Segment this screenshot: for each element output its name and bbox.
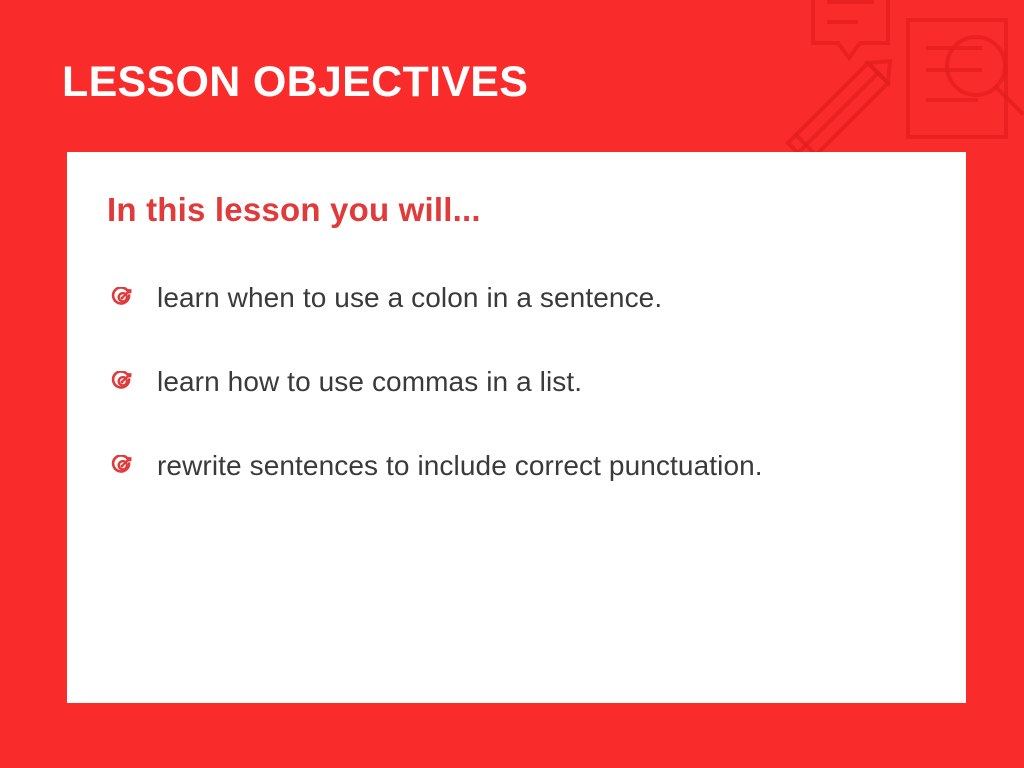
- content-card: In this lesson you will... learn when to…: [67, 152, 966, 703]
- pencil-icon: [788, 61, 890, 160]
- list-item: learn when to use a colon in a sentence.: [111, 283, 942, 367]
- objectives-list: learn when to use a colon in a sentence.…: [111, 283, 942, 535]
- list-item: learn how to use commas in a list.: [111, 367, 942, 451]
- speech-bubble-icon: [813, 0, 888, 58]
- document-magnifier-icon: [908, 20, 1022, 137]
- page-title: LESSON OBJECTIVES: [62, 58, 528, 106]
- objective-text: rewrite sentences to include correct pun…: [157, 451, 942, 480]
- target-dart-icon: [111, 371, 133, 393]
- slide-canvas: LESSON OBJECTIVES In this lesson you wil…: [0, 0, 1024, 768]
- objective-text: learn when to use a colon in a sentence.: [157, 283, 942, 312]
- target-dart-icon: [111, 287, 133, 309]
- objective-text: learn how to use commas in a list.: [157, 367, 942, 396]
- decorative-watermark: [780, 0, 1024, 160]
- list-item: rewrite sentences to include correct pun…: [111, 451, 942, 535]
- target-dart-icon: [111, 455, 133, 477]
- card-heading: In this lesson you will...: [107, 190, 481, 230]
